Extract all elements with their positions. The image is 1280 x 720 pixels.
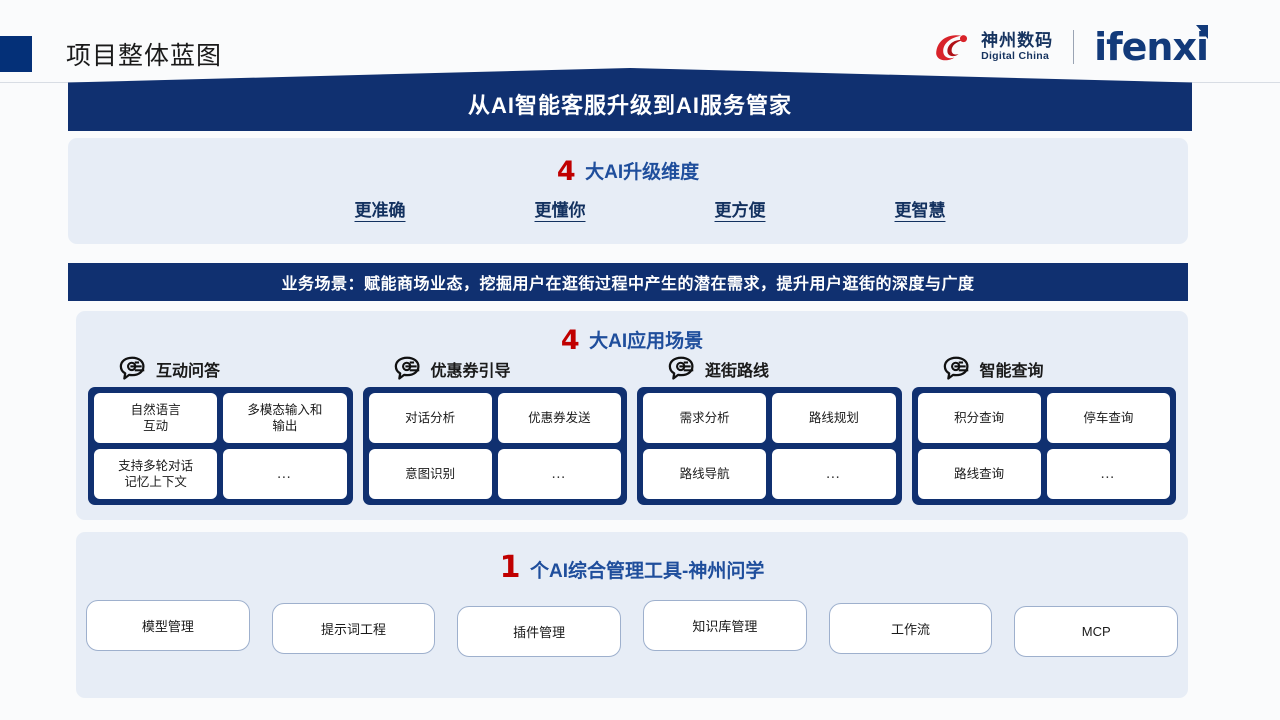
scenario-cell[interactable]: 路线导航	[643, 449, 766, 499]
scenario-title-row: 互动问答	[88, 353, 353, 385]
ifenxi-arrow-icon	[1194, 23, 1210, 41]
scenario-cell-grid: 自然语言互动多模态输入和输出支持多轮对话记忆上下文…	[88, 387, 353, 505]
scenarios-heading: 大AI应用场景	[589, 331, 703, 352]
digital-china-swoosh-icon	[932, 30, 974, 64]
scenario-group-list: 互动问答自然语言互动多模态输入和输出支持多轮对话记忆上下文… 优惠券引导对话分析…	[88, 353, 1176, 505]
scenario-cell[interactable]: 自然语言互动	[94, 393, 217, 443]
page-title: 项目整体蓝图	[66, 36, 222, 72]
scenario-cell-more[interactable]: …	[772, 449, 895, 499]
scenario-cell-more[interactable]: …	[498, 449, 621, 499]
scenario-group: 逛街路线需求分析路线规划路线导航…	[637, 353, 902, 505]
dimensions-headline: 4 大AI升级维度	[68, 156, 1188, 187]
scenario-cell[interactable]: 对话分析	[369, 393, 492, 443]
scenario-title-row: 逛街路线	[637, 353, 902, 385]
scenario-cell-grid: 积分查询停车查询路线查询…	[912, 387, 1177, 505]
dimensions-count: 4	[557, 156, 576, 187]
scenario-cell-grid: 需求分析路线规划路线导航…	[637, 387, 902, 505]
digital-china-wordmark: 神州数码 Digital China	[981, 32, 1053, 62]
tool-item[interactable]: 模型管理	[86, 600, 250, 651]
digital-china-en: Digital China	[981, 51, 1053, 62]
scenario-cell[interactable]: 积分查询	[918, 393, 1041, 443]
scenario-group: 智能查询积分查询停车查询路线查询…	[912, 353, 1177, 505]
logo-separator	[1073, 30, 1074, 64]
dimensions-heading: 大AI升级维度	[585, 162, 699, 183]
tool-item[interactable]: 提示词工程	[272, 603, 436, 654]
ifenxi-logo: ifenxi	[1094, 28, 1208, 66]
logo-group: 神州数码 Digital China ifenxi	[932, 28, 1208, 66]
digital-china-logo: 神州数码 Digital China	[932, 30, 1053, 64]
scenario-title-row: 优惠券引导	[363, 353, 628, 385]
tool-item-list: 模型管理提示词工程插件管理知识库管理工作流MCP	[86, 600, 1178, 657]
scenario-title: 优惠券引导	[431, 357, 511, 381]
dimension-item-1[interactable]: 更准确	[290, 196, 470, 221]
ai-chat-bot-icon	[942, 356, 972, 382]
scenario-cell-more[interactable]: …	[223, 449, 346, 499]
scenario-cell-grid: 对话分析优惠券发送意图识别…	[363, 387, 628, 505]
scenarios-headline: 4 大AI应用场景	[76, 325, 1188, 356]
scenario-title: 逛街路线	[705, 357, 769, 381]
tool-item[interactable]: MCP	[1014, 606, 1178, 657]
ai-chat-bot-icon	[393, 356, 423, 382]
ai-scenarios-panel: 4 大AI应用场景 互动问答自然语言互动多模态输入和输出支持多轮对话记忆上下文……	[76, 311, 1188, 520]
banner: 从AI智能客服升级到AI服务管家	[68, 68, 1192, 131]
tool-item[interactable]: 知识库管理	[643, 600, 807, 651]
scenario-cell[interactable]: 优惠券发送	[498, 393, 621, 443]
scenario-group: 互动问答自然语言互动多模态输入和输出支持多轮对话记忆上下文…	[88, 353, 353, 505]
scenario-title-row: 智能查询	[912, 353, 1177, 385]
scenario-cell[interactable]: 路线查询	[918, 449, 1041, 499]
scenario-title: 智能查询	[980, 357, 1044, 381]
scenarios-count: 4	[561, 325, 580, 356]
ai-chat-bot-icon	[667, 356, 697, 382]
tool-count: 1	[500, 550, 521, 585]
scenario-cell[interactable]: 意图识别	[369, 449, 492, 499]
scenario-cell[interactable]: 多模态输入和输出	[223, 393, 346, 443]
tool-item[interactable]: 插件管理	[457, 606, 621, 657]
tool-headline: 1 个AI综合管理工具-神州问学	[76, 550, 1188, 585]
business-scenario-text: 业务场景：赋能商场业态，挖掘用户在逛街过程中产生的潜在需求，提升用户逛街的深度与…	[281, 270, 974, 294]
dimension-item-4[interactable]: 更智慧	[830, 196, 1010, 221]
scenario-group: 优惠券引导对话分析优惠券发送意图识别…	[363, 353, 628, 505]
ifenxi-wordmark: ifenxi	[1094, 25, 1208, 69]
banner-title: 从AI智能客服升级到AI服务管家	[68, 88, 1192, 120]
tool-item[interactable]: 工作流	[829, 603, 993, 654]
scenario-cell-more[interactable]: …	[1047, 449, 1170, 499]
dimension-item-3[interactable]: 更方便	[650, 196, 830, 221]
scenario-cell[interactable]: 需求分析	[643, 393, 766, 443]
dimension-item-2[interactable]: 更懂你	[470, 196, 650, 221]
dimensions-list: 更准确 更懂你 更方便 更智慧	[68, 196, 1188, 221]
ai-chat-bot-icon	[118, 356, 148, 382]
ai-management-tool-panel: 1 个AI综合管理工具-神州问学 模型管理提示词工程插件管理知识库管理工作流MC…	[76, 532, 1188, 698]
tool-heading: 个AI综合管理工具-神州问学	[530, 561, 764, 582]
digital-china-cn: 神州数码	[981, 32, 1053, 49]
scenario-cell[interactable]: 支持多轮对话记忆上下文	[94, 449, 217, 499]
scenario-title: 互动问答	[156, 357, 220, 381]
scenario-cell[interactable]: 路线规划	[772, 393, 895, 443]
business-scenario-bar: 业务场景：赋能商场业态，挖掘用户在逛街过程中产生的潜在需求，提升用户逛街的深度与…	[68, 263, 1188, 301]
header-accent-bar	[0, 36, 32, 72]
scenario-cell[interactable]: 停车查询	[1047, 393, 1170, 443]
upgrade-dimensions-panel: 4 大AI升级维度 更准确 更懂你 更方便 更智慧	[68, 138, 1188, 244]
